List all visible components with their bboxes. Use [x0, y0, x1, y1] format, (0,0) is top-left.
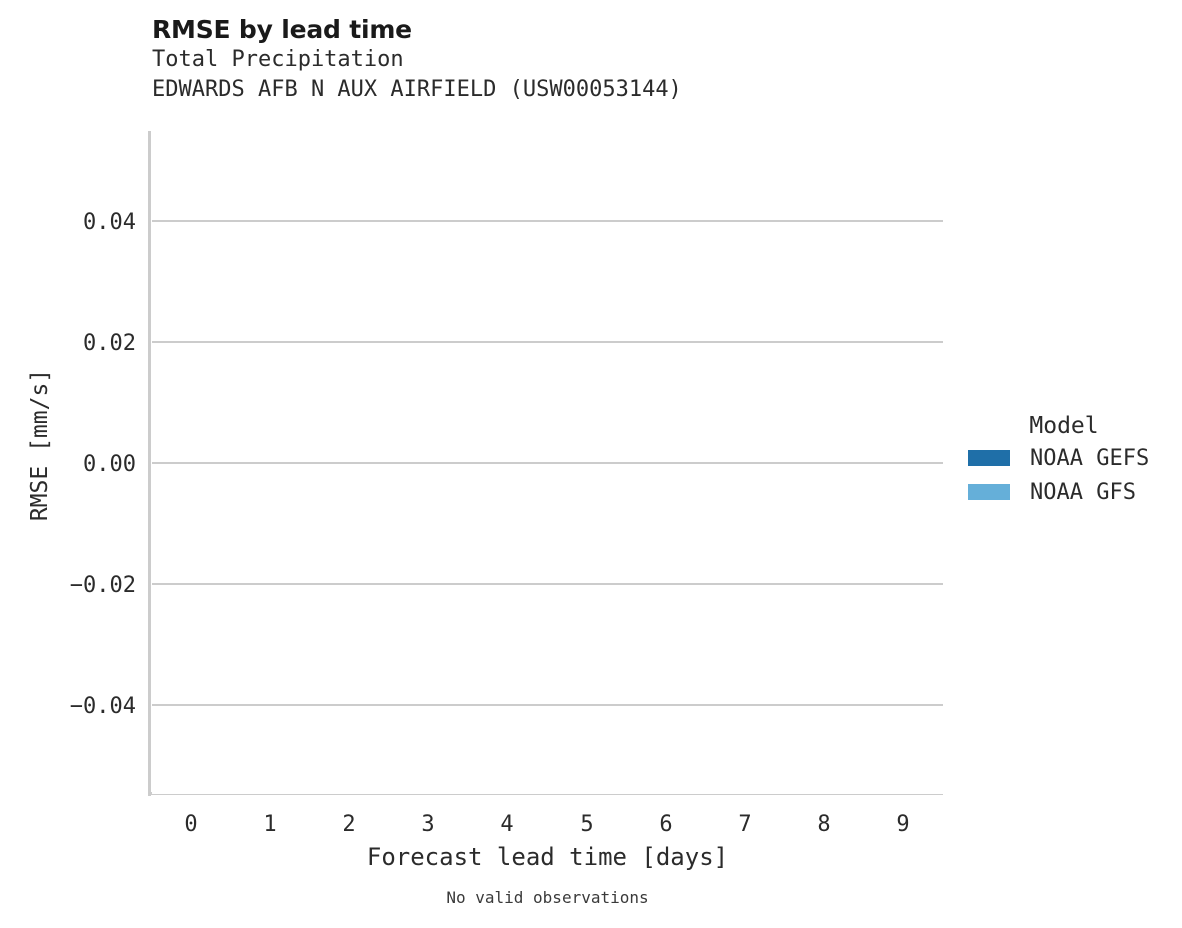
- page-title: RMSE by lead time: [152, 14, 932, 45]
- plot-area: [152, 133, 943, 794]
- y-tick-label: −0.02: [0, 573, 136, 598]
- y-tick-label: 0.00: [0, 452, 136, 477]
- legend: Model NOAA GEFS NOAA GFS: [968, 411, 1160, 509]
- y-tick-label: 0.02: [0, 331, 136, 356]
- gridline-0.04: [152, 220, 943, 222]
- y-tick-label: 0.04: [0, 210, 136, 235]
- y-axis-label: RMSE [mm/s]: [27, 145, 53, 745]
- gridline-0.02: [152, 341, 943, 343]
- no-data-annotation: No valid observations: [152, 888, 943, 907]
- legend-item-noaa-gfs[interactable]: NOAA GFS: [968, 475, 1160, 509]
- gridline--0.04: [152, 704, 943, 706]
- legend-item-label: NOAA GEFS: [1030, 446, 1149, 471]
- x-tick-label: 6: [636, 812, 696, 837]
- chart-subtitle-station: EDWARDS AFB N AUX AIRFIELD (USW00053144): [152, 75, 932, 105]
- x-tick-label: 3: [398, 812, 458, 837]
- chart-title-block: RMSE by lead time Total Precipitation ED…: [152, 14, 932, 105]
- x-tick-label: 1: [240, 812, 300, 837]
- legend-title: Model: [968, 411, 1160, 441]
- x-tick-label: 0: [161, 812, 221, 837]
- y-tick-label: −0.04: [0, 694, 136, 719]
- x-tick-label: 8: [794, 812, 854, 837]
- x-tick-label: 5: [557, 812, 617, 837]
- legend-swatch-icon: [968, 484, 1010, 500]
- chart-subtitle-variable: Total Precipitation: [152, 45, 932, 75]
- x-axis-label: Forecast lead time [days]: [152, 843, 943, 871]
- gridline-0.00: [152, 462, 943, 464]
- chart-figure: RMSE by lead time Total Precipitation ED…: [0, 0, 1182, 928]
- x-tick-label: 7: [715, 812, 775, 837]
- x-tick-label: 2: [319, 812, 379, 837]
- y-axis-spine: [148, 131, 151, 796]
- legend-item-label: NOAA GFS: [1030, 480, 1136, 505]
- gridline--0.02: [152, 583, 943, 585]
- x-tick-label: 9: [873, 812, 933, 837]
- x-tick-label: 4: [477, 812, 537, 837]
- legend-item-noaa-gefs[interactable]: NOAA GEFS: [968, 441, 1160, 475]
- legend-swatch-icon: [968, 450, 1010, 466]
